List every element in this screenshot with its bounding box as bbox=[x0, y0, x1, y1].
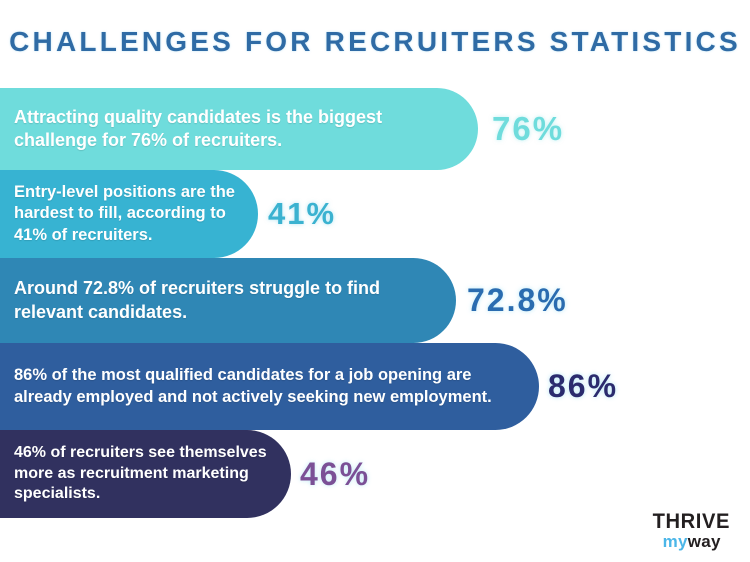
stat-bar-row: 46% of recruiters see themselves more as… bbox=[0, 430, 750, 518]
stat-bar-value-label: 76% bbox=[492, 88, 564, 170]
logo-secondary-text: myway bbox=[651, 533, 732, 550]
stat-bar-text: Attracting quality candidates is the big… bbox=[14, 88, 444, 170]
stat-bar-text: 46% of recruiters see themselves more as… bbox=[14, 430, 289, 518]
logo-way-text: way bbox=[688, 532, 721, 551]
stat-bar-row: Entry-level positions are the hardest to… bbox=[0, 170, 750, 258]
stat-bar-value-label: 86% bbox=[548, 343, 618, 430]
page-title: CHALLENGES FOR RECRUITERS STATISTICS bbox=[0, 26, 750, 58]
stat-bar-text: Entry-level positions are the hardest to… bbox=[14, 170, 259, 258]
stat-bar-value-label: 72.8% bbox=[467, 258, 568, 343]
stat-bar-text: Around 72.8% of recruiters struggle to f… bbox=[14, 258, 454, 343]
stat-bar-row: Attracting quality candidates is the big… bbox=[0, 88, 750, 170]
thrivemyway-logo: THRIVE myway bbox=[651, 511, 732, 550]
stat-bar-value-label: 41% bbox=[268, 170, 336, 258]
logo-primary-text: THRIVE bbox=[653, 511, 730, 532]
stat-bar-row: Around 72.8% of recruiters struggle to f… bbox=[0, 258, 750, 343]
stat-bar-value-label: 46% bbox=[300, 430, 370, 518]
logo-my-text: my bbox=[663, 532, 688, 551]
infographic-canvas: CHALLENGES FOR RECRUITERS STATISTICS Att… bbox=[0, 0, 750, 562]
statistics-bar-list: Attracting quality candidates is the big… bbox=[0, 88, 750, 518]
stat-bar-row: 86% of the most qualified candidates for… bbox=[0, 343, 750, 430]
stat-bar-text: 86% of the most qualified candidates for… bbox=[14, 343, 529, 430]
